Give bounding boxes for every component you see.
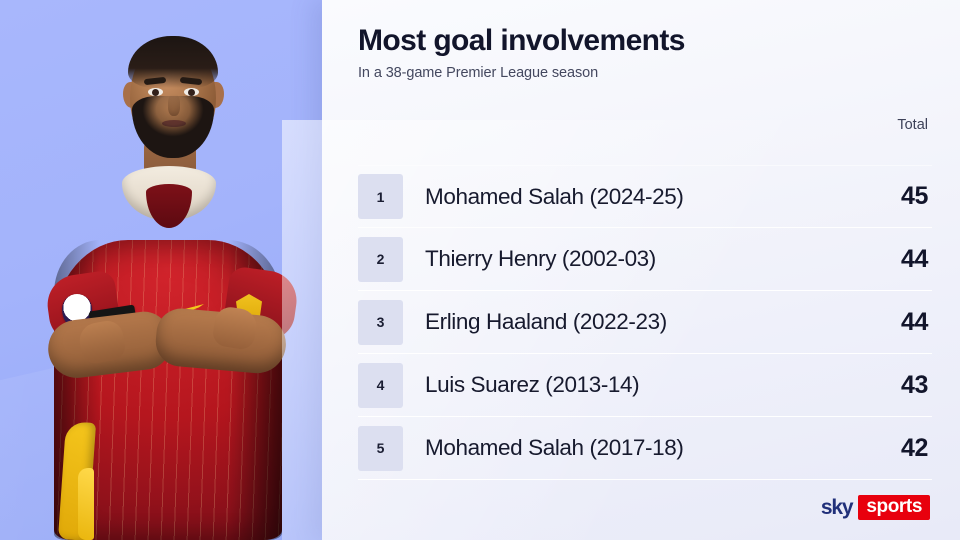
header-block: Most goal involvements In a 38-game Prem…	[358, 24, 932, 81]
table-row: 1 Mohamed Salah (2024-25) 45	[358, 165, 932, 228]
total-value: 42	[862, 434, 932, 463]
rank-badge: 4	[358, 363, 403, 408]
total-value: 45	[862, 182, 932, 211]
player-cutout-image: LFC	[18, 16, 318, 540]
table-row: 4 Luis Suarez (2013-14) 43	[358, 354, 932, 417]
player-hair	[128, 36, 218, 88]
rank-badge: 2	[358, 237, 403, 282]
total-value: 44	[862, 245, 932, 274]
player-name: Thierry Henry (2002-03)	[403, 246, 862, 272]
sports-wordmark: sports	[858, 495, 930, 520]
player-pupil-left	[152, 89, 159, 96]
sky-sports-logo: sky sports	[821, 495, 930, 520]
page-subtitle: In a 38-game Premier League season	[358, 65, 932, 81]
player-name: Erling Haaland (2022-23)	[403, 309, 862, 335]
player-name: Luis Suarez (2013-14)	[403, 372, 862, 398]
column-header-total: Total	[897, 117, 928, 133]
sky-wordmark: sky	[821, 497, 858, 518]
table-row: 3 Erling Haaland (2022-23) 44	[358, 291, 932, 354]
table-row: 5 Mohamed Salah (2017-18) 42	[358, 417, 932, 480]
total-value: 44	[862, 308, 932, 337]
jersey-yellow-trim-inner	[78, 468, 94, 540]
rank-badge: 5	[358, 426, 403, 471]
page-title: Most goal involvements	[358, 24, 932, 57]
rank-badge: 1	[358, 174, 403, 219]
table-row: 2 Thierry Henry (2002-03) 44	[358, 228, 932, 291]
rank-badge: 3	[358, 300, 403, 345]
player-name: Mohamed Salah (2017-18)	[403, 435, 862, 461]
jersey-collar-vee	[146, 184, 192, 228]
total-value: 43	[862, 371, 932, 400]
player-name: Mohamed Salah (2024-25)	[403, 184, 862, 210]
rankings-table: 1 Mohamed Salah (2024-25) 45 2 Thierry H…	[358, 165, 932, 480]
player-pupil-right	[188, 89, 195, 96]
stats-panel: Most goal involvements In a 38-game Prem…	[322, 0, 960, 540]
player-photo-panel: LFC	[0, 0, 330, 540]
